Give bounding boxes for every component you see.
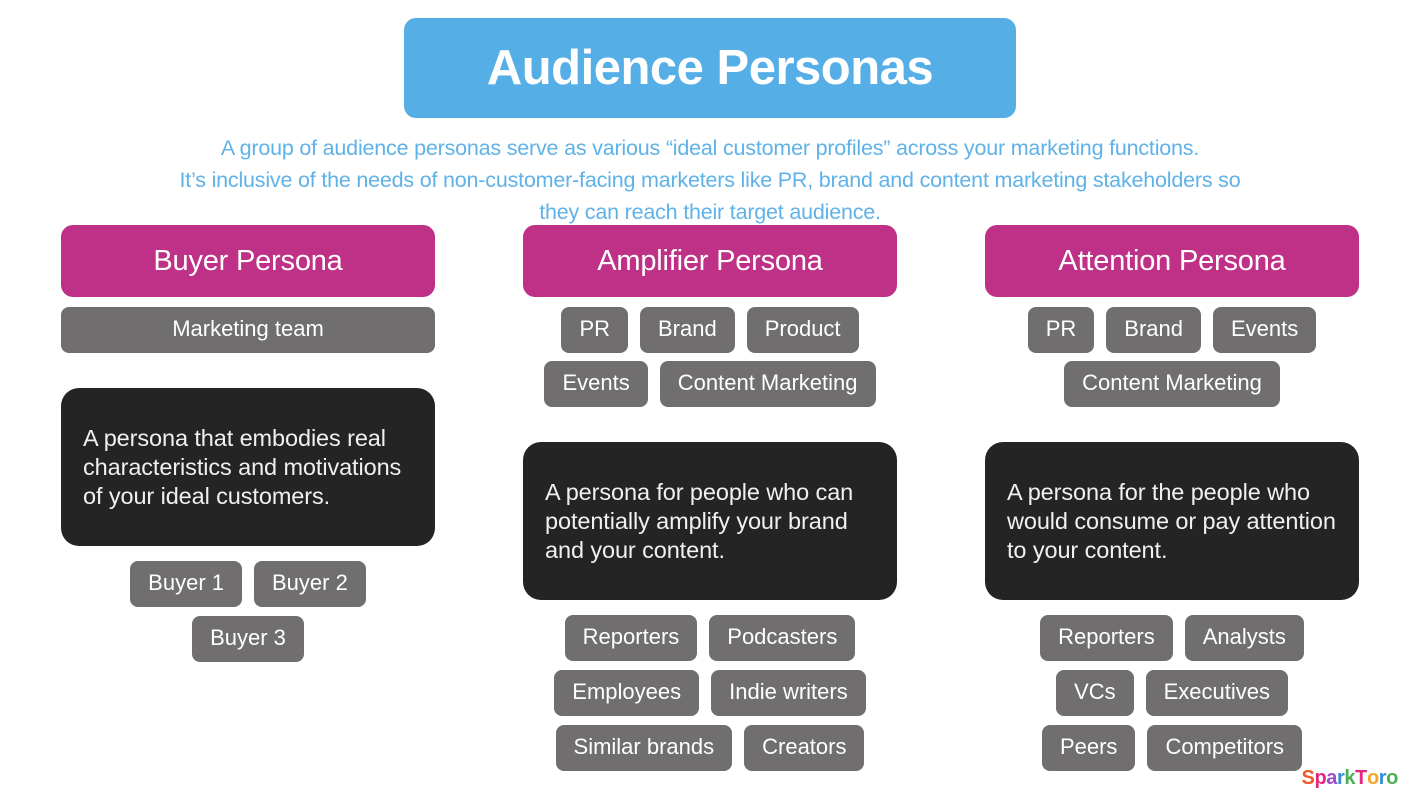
persona-header-label: Attention Persona: [1058, 247, 1285, 276]
description-box-amplifier: A persona for people who can potentially…: [523, 442, 897, 600]
persona-columns: Buyer Persona Marketing team A persona t…: [0, 225, 1420, 771]
example-tag[interactable]: Executives: [1146, 670, 1288, 716]
logo-letter-4: k: [1344, 768, 1355, 788]
function-tag[interactable]: PR: [561, 307, 628, 353]
tag-row: PR Brand Events: [1028, 307, 1317, 353]
function-tag[interactable]: Events: [1213, 307, 1316, 353]
persona-column-buyer: Buyer Persona Marketing team A persona t…: [61, 225, 435, 771]
function-tag[interactable]: PR: [1028, 307, 1095, 353]
tag-row: PR Brand Product: [561, 307, 858, 353]
subtitle-line-3: they can reach their target audience.: [20, 196, 1400, 228]
function-tag[interactable]: Marketing team: [61, 307, 435, 353]
logo-letter-8: o: [1386, 768, 1398, 788]
title-banner: Audience Personas: [404, 18, 1016, 118]
example-tag[interactable]: Reporters: [1040, 615, 1173, 661]
example-tag[interactable]: Analysts: [1185, 615, 1304, 661]
tag-row: Reporters Podcasters: [565, 615, 856, 661]
function-tag[interactable]: Brand: [1106, 307, 1201, 353]
example-tag[interactable]: Competitors: [1147, 725, 1302, 771]
example-tag[interactable]: Indie writers: [711, 670, 866, 716]
title-section: Audience Personas: [0, 0, 1420, 118]
description-box-attention: A persona for the people who would consu…: [985, 442, 1359, 600]
example-tag[interactable]: Podcasters: [709, 615, 855, 661]
persona-header-amplifier: Amplifier Persona: [523, 225, 897, 297]
persona-header-attention: Attention Persona: [985, 225, 1359, 297]
example-tags-attention: Reporters Analysts VCs Executives Peers …: [985, 615, 1359, 771]
tag-row: Marketing team: [61, 307, 435, 353]
logo-letter-0: S: [1301, 768, 1314, 788]
description-slot: A persona for the people who would consu…: [985, 415, 1359, 600]
function-tags-amplifier: PR Brand Product Events Content Marketin…: [523, 307, 897, 407]
example-tag[interactable]: Employees: [554, 670, 699, 716]
example-tag[interactable]: Buyer 2: [254, 561, 366, 607]
function-tags-buyer: Marketing team: [61, 307, 435, 353]
persona-header-buyer: Buyer Persona: [61, 225, 435, 297]
example-tag[interactable]: Similar brands: [556, 725, 733, 771]
example-tag[interactable]: VCs: [1056, 670, 1134, 716]
tag-row: Peers Competitors: [1042, 725, 1302, 771]
function-tags-attention: PR Brand Events Content Marketing: [985, 307, 1359, 407]
function-tag[interactable]: Events: [544, 361, 647, 407]
description-text: A persona that embodies real characteris…: [83, 424, 413, 511]
tag-row: Buyer 3: [192, 616, 304, 662]
example-tags-amplifier: Reporters Podcasters Employees Indie wri…: [523, 615, 897, 771]
logo-letter-2: a: [1326, 768, 1337, 788]
sparktoro-logo: SparkToro: [1301, 768, 1398, 788]
tag-row: Buyer 1 Buyer 2: [130, 561, 366, 607]
example-tag[interactable]: Buyer 1: [130, 561, 242, 607]
example-tag[interactable]: Buyer 3: [192, 616, 304, 662]
persona-column-attention: Attention Persona PR Brand Events Conten…: [985, 225, 1359, 771]
example-tag[interactable]: Peers: [1042, 725, 1135, 771]
example-tags-buyer: Buyer 1 Buyer 2 Buyer 3: [61, 561, 435, 662]
logo-letter-7: r: [1379, 768, 1386, 788]
tag-row: Content Marketing: [1064, 361, 1280, 407]
description-slot: A persona that embodies real characteris…: [61, 361, 435, 546]
example-tag[interactable]: Creators: [744, 725, 864, 771]
persona-header-label: Buyer Persona: [153, 247, 342, 276]
function-tag[interactable]: Content Marketing: [1064, 361, 1280, 407]
subtitle: A group of audience personas serve as va…: [20, 132, 1400, 228]
logo-letter-6: o: [1367, 768, 1379, 788]
description-text: A persona for people who can potentially…: [545, 478, 875, 565]
tag-row: Similar brands Creators: [556, 725, 865, 771]
logo-letter-5: T: [1355, 768, 1367, 788]
tag-row: Employees Indie writers: [554, 670, 865, 716]
persona-header-label: Amplifier Persona: [597, 247, 822, 276]
description-text: A persona for the people who would consu…: [1007, 478, 1337, 565]
subtitle-line-1: A group of audience personas serve as va…: [20, 132, 1400, 164]
subtitle-line-2: It’s inclusive of the needs of non-custo…: [20, 164, 1400, 196]
logo-letter-1: p: [1314, 768, 1326, 788]
description-slot: A persona for people who can potentially…: [523, 415, 897, 600]
description-box-buyer: A persona that embodies real characteris…: [61, 388, 435, 546]
persona-column-amplifier: Amplifier Persona PR Brand Product Event…: [523, 225, 897, 771]
logo-letter-3: r: [1337, 768, 1344, 788]
function-tag[interactable]: Product: [747, 307, 859, 353]
tag-row: Events Content Marketing: [544, 361, 875, 407]
function-tag[interactable]: Content Marketing: [660, 361, 876, 407]
tag-row: VCs Executives: [1056, 670, 1288, 716]
page-title: Audience Personas: [487, 44, 933, 93]
function-tag[interactable]: Brand: [640, 307, 735, 353]
tag-row: Reporters Analysts: [1040, 615, 1304, 661]
example-tag[interactable]: Reporters: [565, 615, 698, 661]
